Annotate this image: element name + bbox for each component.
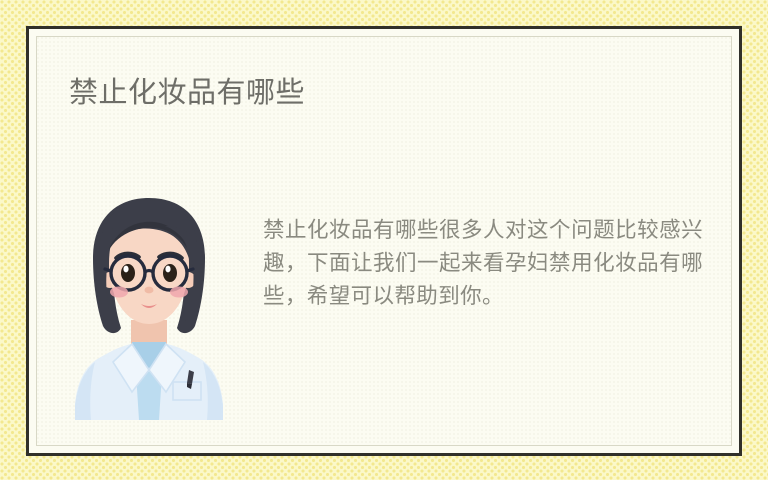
article-card-inner: 禁止化妆品有哪些 bbox=[36, 36, 732, 446]
article-content-row: 禁止化妆品有哪些很多人对这个问题比较感兴趣，下面让我们一起来看孕妇禁用化妆品有哪… bbox=[69, 192, 707, 420]
page-background: 禁止化妆品有哪些 bbox=[0, 0, 768, 480]
avatar bbox=[69, 192, 229, 420]
article-card-frame: 禁止化妆品有哪些 bbox=[26, 26, 742, 456]
article-summary: 禁止化妆品有哪些很多人对这个问题比较感兴趣，下面让我们一起来看孕妇禁用化妆品有哪… bbox=[263, 214, 703, 313]
page-title: 禁止化妆品有哪些 bbox=[69, 75, 305, 111]
female-doctor-illustration bbox=[69, 192, 229, 420]
